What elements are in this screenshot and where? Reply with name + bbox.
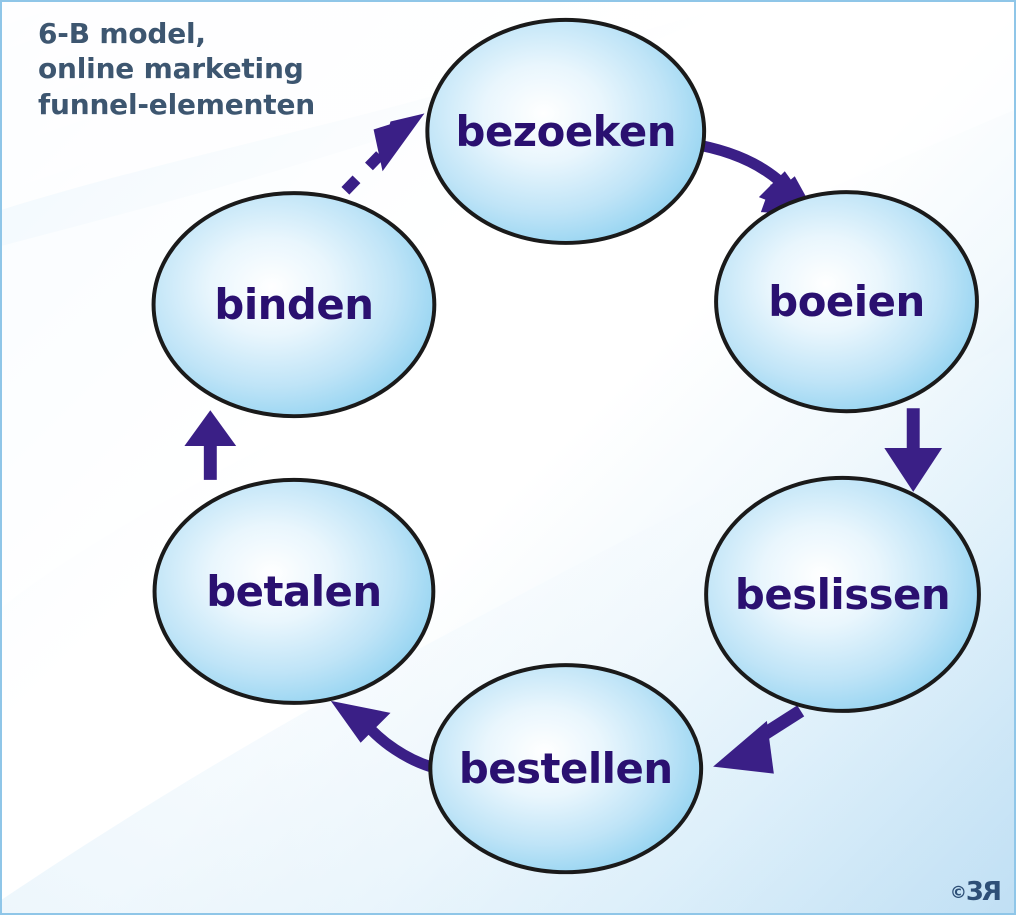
node-betalen-label: betalen	[206, 567, 381, 616]
node-boeien[interactable]: boeien	[716, 192, 977, 411]
arrow-beslissen-to-bestellen	[713, 711, 801, 774]
node-bezoeken[interactable]: bezoeken	[427, 20, 704, 243]
watermark-brand: 3	[966, 877, 983, 907]
node-layer: bezoeken boeien beslissen bestellen beta…	[154, 20, 979, 872]
node-bestellen-label: bestellen	[459, 744, 673, 793]
page-title: 6-B model, online marketing funnel-eleme…	[38, 16, 315, 122]
node-bestellen[interactable]: bestellen	[430, 665, 701, 872]
arrow-boeien-to-beslissen	[884, 408, 942, 492]
watermark-brand-mirrored: R	[983, 877, 1002, 907]
copyright-icon: ©	[950, 883, 966, 903]
node-beslissen-label: beslissen	[735, 570, 950, 619]
diagram-canvas: 6-B model, online marketing funnel-eleme…	[0, 0, 1016, 915]
node-binden-label: binden	[214, 280, 373, 329]
watermark: ©3R	[950, 877, 1002, 907]
arrow-betalen-to-binden	[184, 410, 236, 480]
cycle-diagram: bezoeken boeien beslissen bestellen beta…	[2, 2, 1014, 913]
node-beslissen[interactable]: beslissen	[706, 478, 979, 711]
node-bezoeken-label: bezoeken	[456, 107, 676, 156]
arrow-bestellen-to-betalen	[331, 701, 431, 767]
node-boeien-label: boeien	[768, 277, 924, 326]
node-binden[interactable]: binden	[154, 193, 435, 416]
node-betalen[interactable]: betalen	[155, 480, 434, 703]
